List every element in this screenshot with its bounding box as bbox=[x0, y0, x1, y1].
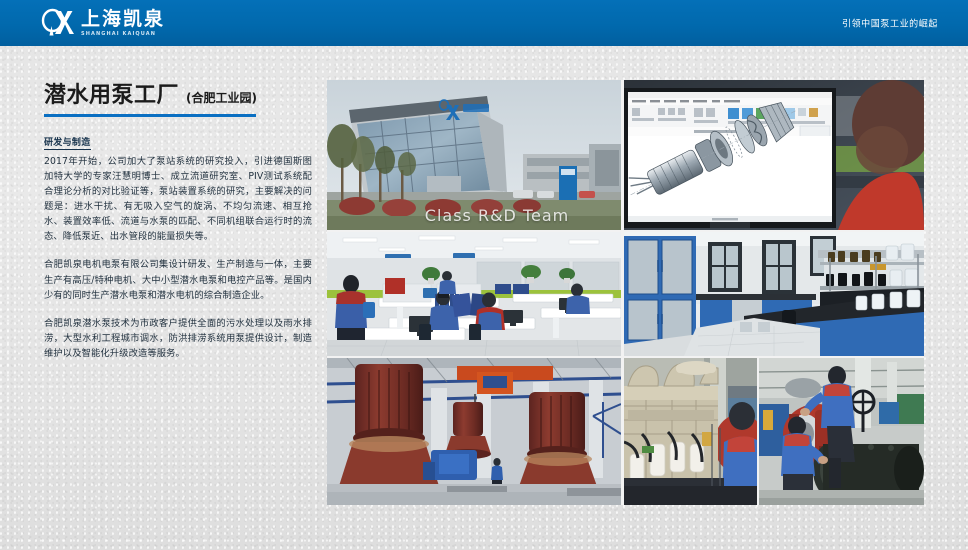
page-header: 上海凯泉 SHANGHAI KAIQUAN 引领中国泵工业的崛起 bbox=[0, 0, 968, 46]
kaiquan-qx-monogram-icon bbox=[40, 8, 74, 38]
page-title-sub: (合肥工业园) bbox=[186, 89, 257, 106]
title-underline bbox=[44, 114, 256, 117]
photo-cad-workstation bbox=[624, 80, 924, 230]
brand-name-en: SHANGHAI KAIQUAN bbox=[81, 32, 165, 37]
page-title: 潜水用泵工厂 (合肥工业园) bbox=[44, 84, 312, 108]
photo-laboratory bbox=[624, 232, 924, 356]
photo-rd-office bbox=[327, 232, 621, 356]
body-paragraph-3: 合肥凯泉潜水泵技术为市政客户提供全面的污水处理以及雨水排涝，大型水利工程城市调水… bbox=[44, 316, 312, 361]
photo-building bbox=[327, 80, 621, 230]
photo-collage: Class R&D Team bbox=[327, 80, 924, 505]
body-paragraph-2: 合肥凯泉电机电泵有限公司集设计研发、生产制造与一体，主要生产有高压/特种电机、大… bbox=[44, 257, 312, 302]
header-slogan: 引领中国泵工业的崛起 bbox=[842, 17, 938, 30]
body-paragraph-1: 2017年开始，公司加大了泵站系统的研究投入，引进德国斯图加特大学的专家汪慧明博… bbox=[44, 154, 312, 244]
section-heading: 研发与制造 bbox=[44, 135, 91, 150]
photo-pump-assembly-workers bbox=[759, 358, 924, 505]
brand-logo[interactable]: 上海凯泉 SHANGHAI KAIQUAN bbox=[40, 8, 165, 38]
left-content-column: 潜水用泵工厂 (合肥工业园) 研发与制造 2017年开始，公司加大了泵站系统的研… bbox=[44, 84, 312, 361]
photo-diesel-engine bbox=[624, 358, 757, 505]
slide-root: 上海凯泉 SHANGHAI KAIQUAN 引领中国泵工业的崛起 潜水用泵工厂 … bbox=[0, 0, 968, 550]
photo-assembly-hall bbox=[327, 358, 621, 505]
page-title-main: 潜水用泵工厂 bbox=[44, 84, 179, 108]
brand-name-cn: 上海凯泉 bbox=[81, 10, 165, 29]
